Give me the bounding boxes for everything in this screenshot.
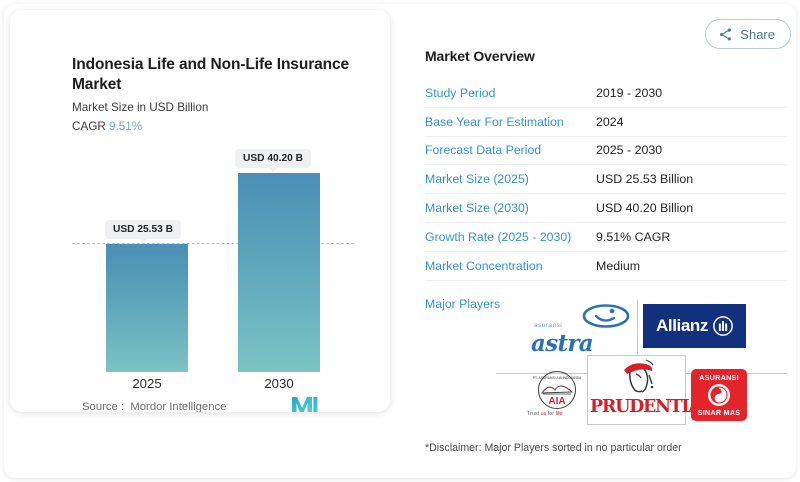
row-key: Base Year For Estimation <box>425 115 596 129</box>
chart-card: Indonesia Life and Non-Life Insurance Ma… <box>10 10 390 412</box>
prudential-logo: PRUDENTIAL <box>588 356 685 424</box>
players-disclaimer: *Disclaimer: Major Players sorted in no … <box>425 442 682 454</box>
allianz-logo: Allianz <box>643 304 746 348</box>
bar-chart-plot: USD 25.53 B USD 40.20 B 2025 2030 <box>10 140 390 380</box>
aia-tagline: Trust us for life <box>527 411 562 417</box>
mordor-intelligence-logo <box>292 396 318 412</box>
table-row: Growth Rate (2025 - 2030) 9.51% CAGR <box>425 223 787 252</box>
row-key: Forecast Data Period <box>425 143 596 157</box>
aia-tagline-pre: Trust <box>527 411 541 417</box>
row-value: 9.51% CAGR <box>596 230 670 244</box>
row-key: Market Concentration <box>425 259 596 273</box>
share-button[interactable]: Share <box>705 19 791 49</box>
source-name: Mordor Intelligence <box>130 401 226 412</box>
sinarmas-line1: ASURANSI <box>699 373 739 382</box>
row-key: Study Period <box>425 86 596 100</box>
cagr-value: 9.51% <box>109 120 142 133</box>
row-value: 2025 - 2030 <box>596 143 662 157</box>
asuransi-astra-logo: asuransi astra <box>525 304 635 360</box>
aia-seal-icon: PT. ASURANSI AIA INDONESIA AIA <box>529 370 585 412</box>
share-network-icon <box>718 27 733 42</box>
asuransi-sinar-mas-logo: ASURANSI SINAR MAS <box>691 369 747 421</box>
table-row: Forecast Data Period 2025 - 2030 <box>425 137 787 166</box>
chart-title: Indonesia Life and Non-Life Insurance Ma… <box>72 55 362 96</box>
data-label-2030: USD 40.20 B <box>235 149 311 168</box>
row-key: Market Size (2025) <box>425 172 596 186</box>
aia-logo: PT. ASURANSI AIA INDONESIA AIA Trust us … <box>525 370 589 420</box>
x-axis-tick-2025: 2025 <box>106 376 188 391</box>
screenshot-root: Indonesia Life and Non-Life Insurance Ma… <box>0 0 800 482</box>
aia-tagline-end: life <box>556 411 563 417</box>
major-players-logo-grid: asuransi astra Allianz PT. ASURANSI AIA … <box>425 300 787 432</box>
cagr-label: CAGR <box>72 120 106 133</box>
astra-wordmark: astra <box>531 330 593 357</box>
table-row: Market Concentration Medium <box>425 252 787 281</box>
aia-tagline-post: for <box>546 411 555 417</box>
table-row: Market Size (2025) USD 25.53 Billion <box>425 165 787 194</box>
row-value: 2024 <box>596 115 624 129</box>
share-button-label: Share <box>740 27 775 42</box>
row-key: Market Size (2030) <box>425 201 596 215</box>
sinarmas-swirl-icon <box>707 383 731 407</box>
allianz-bars-icon <box>713 316 733 336</box>
table-row: Study Period 2019 - 2030 <box>425 79 787 108</box>
bar-2030[interactable] <box>238 173 320 372</box>
table-row: Base Year For Estimation 2024 <box>425 108 787 137</box>
allianz-wordmark: Allianz <box>656 316 708 336</box>
market-overview-title: Market Overview <box>425 48 787 64</box>
astra-sub-label: asuransi <box>534 322 562 329</box>
data-label-2025: USD 25.53 B <box>105 220 181 239</box>
bar-2025[interactable] <box>106 244 188 372</box>
source-line: Source : Mordor Intelligence <box>82 401 226 412</box>
chart-subtitle: Market Size in USD Billion <box>72 101 208 114</box>
row-value: Medium <box>596 259 640 273</box>
market-overview-panel: Market Overview Study Period 2019 - 2030… <box>425 48 787 311</box>
svg-text:AIA: AIA <box>548 396 565 407</box>
x-axis-tick-2030: 2030 <box>238 376 320 391</box>
row-value: USD 40.20 Billion <box>596 201 693 215</box>
sinarmas-line2: SINAR MAS <box>698 408 741 417</box>
astra-swoosh-icon <box>582 303 634 329</box>
svg-text:PT. ASURANSI AIA INDONESIA: PT. ASURANSI AIA INDONESIA <box>533 376 582 380</box>
chart-cagr: CAGR 9.51% <box>72 120 142 133</box>
prudential-face-icon <box>616 358 660 398</box>
row-value: USD 25.53 Billion <box>596 172 693 186</box>
table-row: Market Size (2030) USD 40.20 Billion <box>425 194 787 223</box>
prudential-wordmark: PRUDENTIAL <box>590 397 683 417</box>
source-label: Source : <box>82 401 124 412</box>
row-key: Growth Rate (2025 - 2030) <box>425 230 596 244</box>
row-value: 2019 - 2030 <box>596 86 662 100</box>
